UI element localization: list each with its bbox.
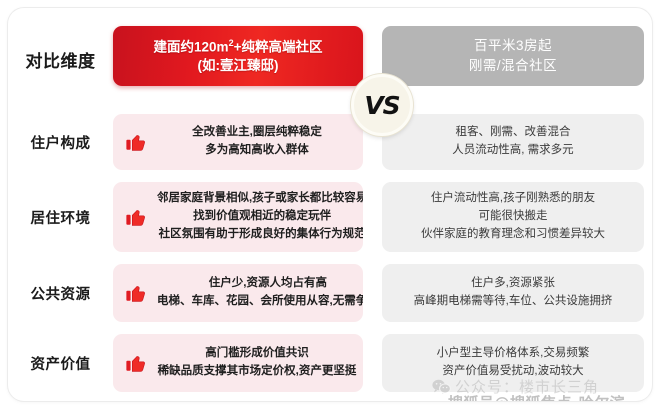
row-massmarket-line: 资产价值易受扰动,波动较大 (390, 363, 636, 381)
row-massmarket-cell: 小户型主导价格体系,交易频繁资产价值易受扰动,波动较大 (382, 334, 644, 392)
dimension-header-label: 对比维度 (8, 26, 113, 92)
thumbs-up-icon-wrap (121, 206, 151, 228)
thumbs-up-icon (125, 131, 147, 153)
thumbs-up-icon (125, 206, 147, 228)
header-premium-line1: 建面约120m (154, 39, 229, 54)
header-massmarket-title: 百平米3房起 刚需/混合社区 (382, 36, 644, 77)
row-premium-line: 多为高知高收入群体 (157, 142, 357, 160)
row-premium-cell: 全改善业主,圈层纯粹稳定多为高知高收入群体 (113, 114, 363, 170)
row-massmarket-line: 小户型主导价格体系,交易频繁 (390, 345, 636, 363)
row-premium-cell: 住户少,资源人均占有高电梯、车库、花园、会所使用从容,无需争抢 (113, 264, 363, 322)
row-premium-line: 稀缺品质支撑其市场定价权,资产更坚挺 (157, 363, 357, 381)
thumbs-up-icon-wrap (121, 282, 151, 304)
row-premium-line: 找到价值观相近的稳定玩伴 (157, 208, 363, 226)
row-massmarket-cell: 租客、刚需、改善混合人员流动性高, 需求多元 (382, 114, 644, 170)
row-label: 资产价值 (8, 334, 113, 392)
row-massmarket-line: 可能很快搬走 (390, 208, 636, 226)
row-premium-line: 邻居家庭背景相似,孩子或家长都比较容易 (157, 190, 363, 208)
row-label: 公共资源 (8, 264, 113, 322)
row-premium-line: 高门槛形成价值共识 (157, 345, 357, 363)
vs-label: VS (364, 91, 399, 120)
row-massmarket-cell: 住户多,资源紧张高峰期电梯需等待,车位、公共设施拥挤 (382, 264, 644, 322)
thumbs-up-icon-wrap (121, 352, 151, 374)
row-massmarket-line: 住户流动性高,孩子刚熟悉的朋友 (390, 190, 636, 208)
row-massmarket-line: 租客、刚需、改善混合 (390, 124, 636, 142)
row-massmarket-text: 小户型主导价格体系,交易频繁资产价值易受扰动,波动较大 (382, 345, 644, 381)
thumbs-up-icon-wrap (121, 131, 151, 153)
row-premium-line: 电梯、车库、花园、会所使用从容,无需争抢 (157, 293, 363, 311)
comparison-card: 对比维度 建面约120m2+纯粹高端社区 (如:壹江臻邸) 百平米3房起 刚需/… (8, 8, 652, 401)
header-massmarket-line2: 刚需/混合社区 (382, 56, 644, 76)
row-premium-line: 社区氛围有助于形成良好的集体行为规范 (157, 226, 363, 244)
row-premium-text: 住户少,资源人均占有高电梯、车库、花园、会所使用从容,无需争抢 (151, 275, 363, 311)
thumbs-up-icon (125, 282, 147, 304)
header-premium-line2: (如:壹江臻邸) (198, 58, 279, 73)
row-premium-line: 全改善业主,圈层纯粹稳定 (157, 124, 357, 142)
row-massmarket-text: 住户多,资源紧张高峰期电梯需等待,车位、公共设施拥挤 (382, 275, 644, 311)
row-premium-text: 邻居家庭背景相似,孩子或家长都比较容易找到价值观相近的稳定玩伴社区氛围有助于形成… (151, 190, 363, 243)
row-premium-cell: 高门槛形成价值共识稀缺品质支撑其市场定价权,资产更坚挺 (113, 334, 363, 392)
row-massmarket-text: 住户流动性高,孩子刚熟悉的朋友可能很快搬走伙伴家庭的教育理念和习惯差异较大 (382, 190, 644, 243)
row-massmarket-text: 租客、刚需、改善混合人员流动性高, 需求多元 (382, 124, 644, 160)
row-premium-text: 高门槛形成价值共识稀缺品质支撑其市场定价权,资产更坚挺 (151, 345, 363, 381)
row-label: 居住环境 (8, 182, 113, 252)
row-massmarket-cell: 住户流动性高,孩子刚熟悉的朋友可能很快搬走伙伴家庭的教育理念和习惯差异较大 (382, 182, 644, 252)
row-premium-cell: 邻居家庭背景相似,孩子或家长都比较容易找到价值观相近的稳定玩伴社区氛围有助于形成… (113, 182, 363, 252)
row-premium-text: 全改善业主,圈层纯粹稳定多为高知高收入群体 (151, 124, 363, 160)
header-panel-massmarket: 百平米3房起 刚需/混合社区 (382, 26, 644, 86)
row-massmarket-line: 伙伴家庭的教育理念和习惯差异较大 (390, 226, 636, 244)
row-massmarket-line: 人员流动性高, 需求多元 (390, 142, 636, 160)
header-premium-line1b: +纯粹高端社区 (234, 39, 323, 54)
row-label: 住户构成 (8, 114, 113, 170)
header-premium-title: 建面约120m2+纯粹高端社区 (如:壹江臻邸) (144, 37, 333, 76)
header-massmarket-line1: 百平米3房起 (382, 36, 644, 56)
vs-badge: VS (351, 74, 413, 136)
comparison-infographic: 对比维度 建面约120m2+纯粹高端社区 (如:壹江臻邸) 百平米3房起 刚需/… (0, 0, 660, 409)
row-massmarket-line: 高峰期电梯需等待,车位、公共设施拥挤 (390, 293, 636, 311)
sohu-watermark-text: 搜狐号@搜狐焦点-哈尔滨 (448, 392, 625, 401)
header-panel-premium: 建面约120m2+纯粹高端社区 (如:壹江臻邸) (113, 26, 363, 86)
thumbs-up-icon (125, 352, 147, 374)
row-premium-line: 住户少,资源人均占有高 (157, 275, 363, 293)
row-massmarket-line: 住户多,资源紧张 (390, 275, 636, 293)
